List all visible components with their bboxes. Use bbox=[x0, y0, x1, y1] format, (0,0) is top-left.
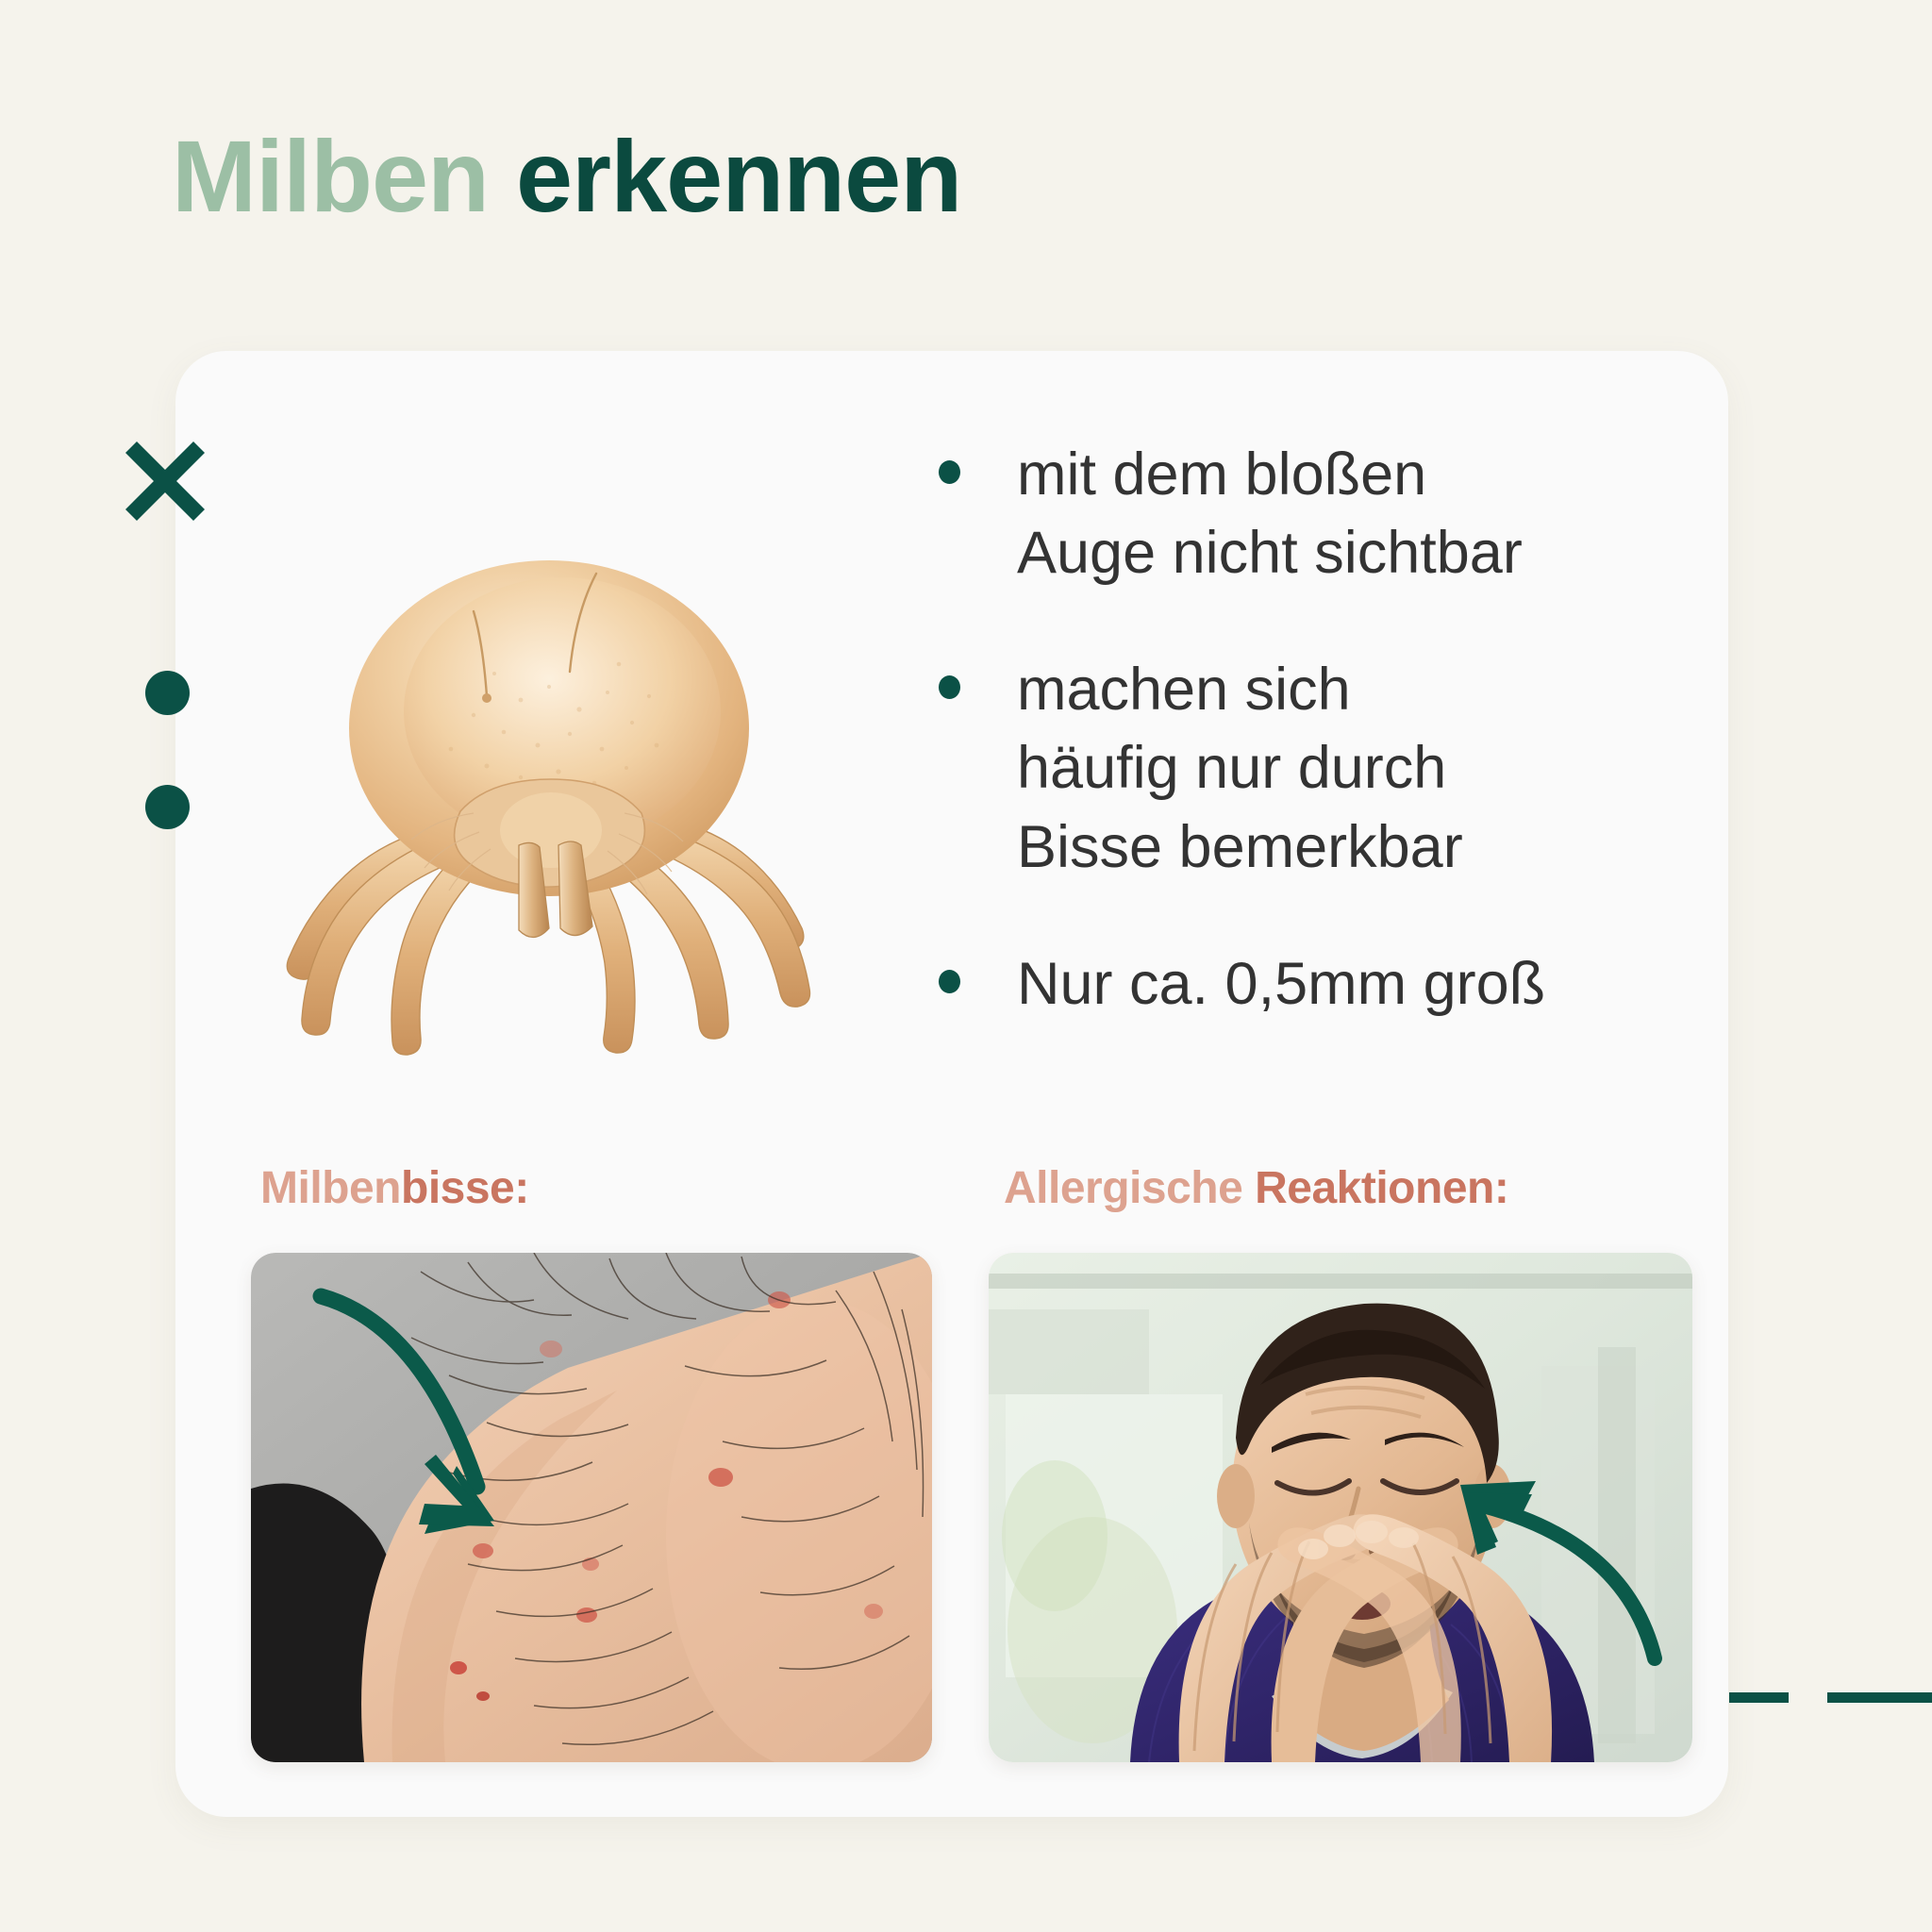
section-heading-light: Milben bbox=[260, 1163, 401, 1213]
list-item-label: Nur ca. 0,5mm groß bbox=[1017, 945, 1545, 1024]
section-heading-dark: bisse: bbox=[401, 1163, 529, 1213]
photo-mite-bites bbox=[251, 1253, 932, 1762]
rail-dot-marker-1 bbox=[145, 671, 190, 715]
page-title: Milben erkennen bbox=[172, 121, 961, 233]
dashed-rule-decoration bbox=[1729, 1692, 1932, 1703]
list-item: Nur ca. 0,5mm groß bbox=[939, 945, 1693, 1024]
photo-allergic-reaction bbox=[989, 1253, 1692, 1762]
section-heading-mite-bites: Milbenbisse: bbox=[260, 1162, 529, 1214]
list-item: mit dem bloßen Auge nicht sichtbar bbox=[939, 436, 1693, 592]
bullet-dot-icon bbox=[939, 675, 960, 699]
bullet-dot-icon bbox=[939, 460, 960, 484]
section-heading-allergic-reactions: Allergische Reaktionen: bbox=[1004, 1162, 1508, 1214]
list-item: machen sich häufig nur durch Bisse bemer… bbox=[939, 651, 1693, 886]
dash-segment bbox=[1827, 1692, 1932, 1703]
page-title-dark: erkennen bbox=[489, 119, 961, 233]
facts-bullet-list: mit dem bloßen Auge nicht sichtbar mache… bbox=[939, 436, 1693, 1024]
section-heading-dark: Reaktionen: bbox=[1255, 1163, 1508, 1213]
list-item-label: mit dem bloßen Auge nicht sichtbar bbox=[1017, 436, 1523, 592]
dash-segment bbox=[1729, 1692, 1789, 1703]
dust-mite-illustration bbox=[238, 530, 849, 1058]
list-item-label: machen sich häufig nur durch Bisse bemer… bbox=[1017, 651, 1463, 886]
section-heading-light: Allergische bbox=[1004, 1163, 1255, 1213]
page-title-light: Milben bbox=[172, 119, 489, 233]
rail-dot-marker-2 bbox=[145, 785, 190, 829]
x-marker-icon bbox=[124, 440, 207, 523]
bullet-dot-icon bbox=[939, 970, 960, 993]
